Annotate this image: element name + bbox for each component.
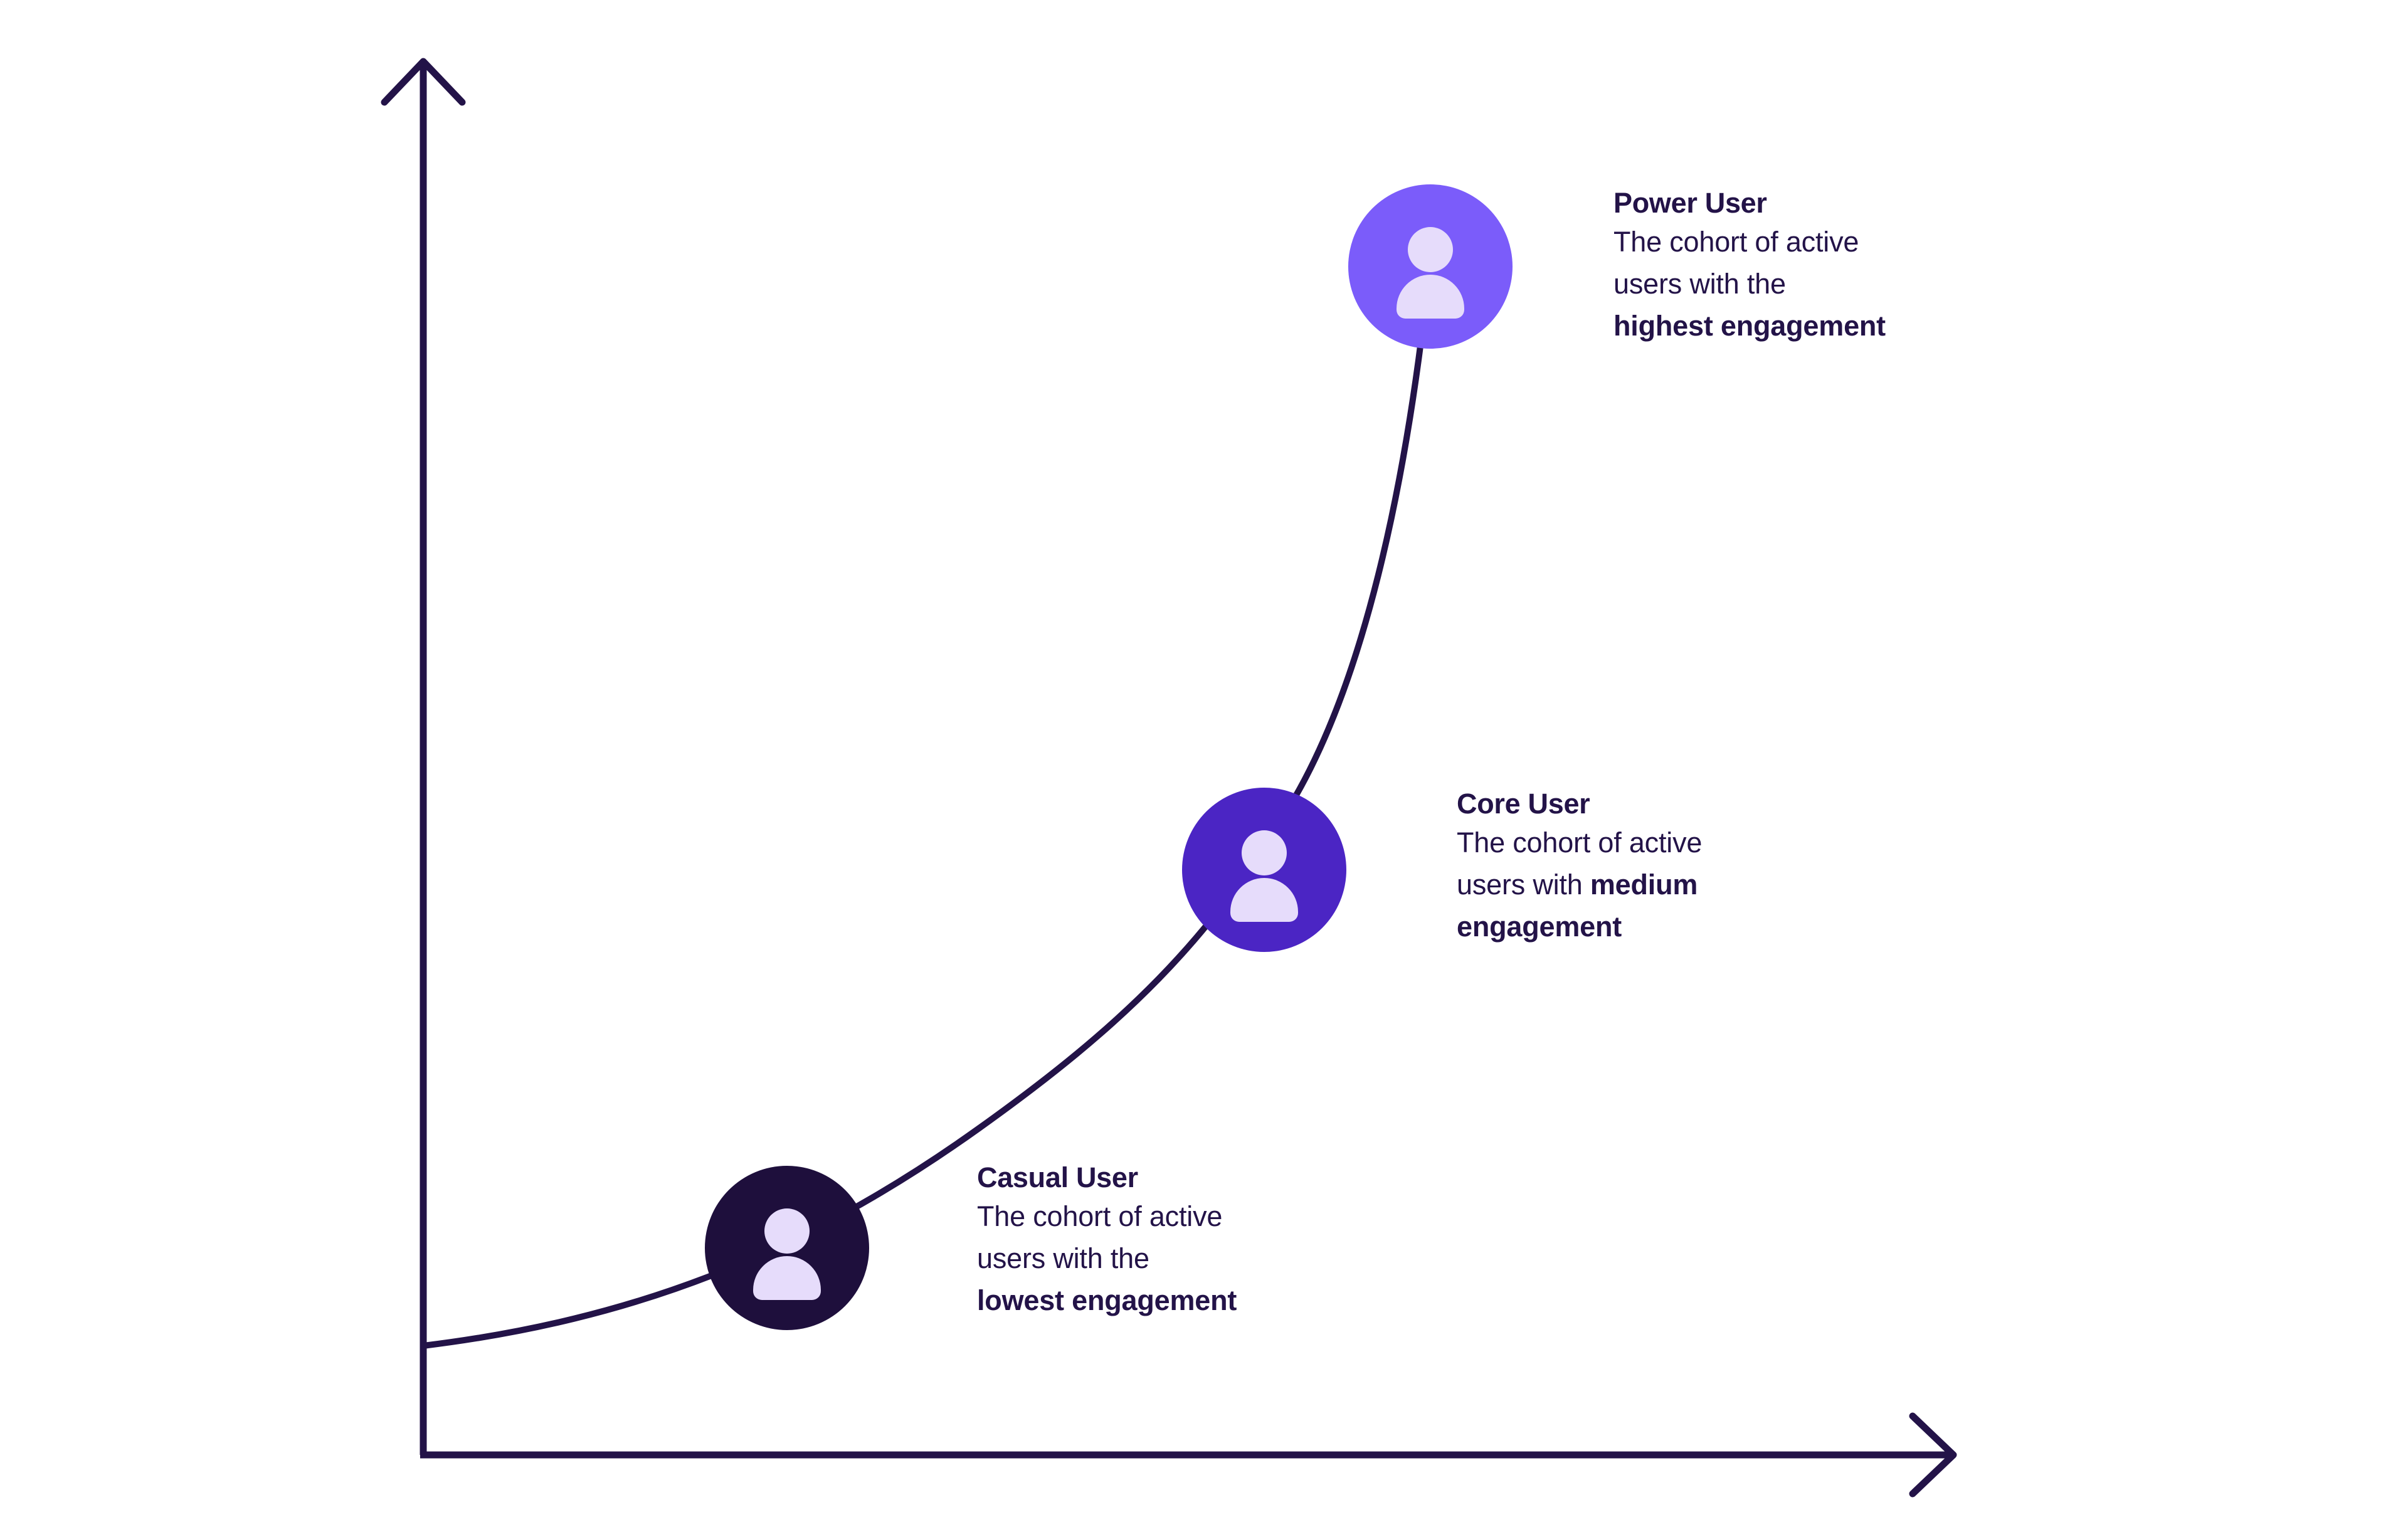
- callout-core-line1: The cohort of active: [1457, 822, 1833, 864]
- callout-core-line2-plain: users with: [1457, 869, 1590, 901]
- user-avatar-icon: [1182, 788, 1346, 952]
- callout-core-line2-bold: medium: [1590, 869, 1698, 901]
- callout-power-title: Power User: [1613, 186, 2027, 221]
- user-avatar-icon: [1348, 184, 1513, 349]
- callout-power-line3: highest engagement: [1613, 305, 2027, 347]
- horizontal-axis: [420, 1416, 1953, 1494]
- callout-power-user: Power User The cohort of active users wi…: [1613, 186, 2027, 347]
- callout-casual-line1: The cohort of active: [977, 1195, 1353, 1237]
- callout-power-line3-bold: highest engagement: [1613, 310, 1886, 342]
- vertical-axis: [384, 61, 462, 1455]
- callout-casual-line3-bold: lowest engagement: [977, 1284, 1237, 1316]
- callout-power-line2: users with the: [1613, 263, 2027, 305]
- node-casual-user[interactable]: [705, 1166, 869, 1330]
- callout-power-line1: The cohort of active: [1613, 221, 2027, 263]
- callout-core-user: Core User The cohort of active users wit…: [1457, 786, 1833, 948]
- callout-casual-line2: users with the: [977, 1237, 1353, 1279]
- node-power-user[interactable]: [1348, 184, 1513, 349]
- callout-casual-user: Casual User The cohort of active users w…: [977, 1160, 1353, 1321]
- callout-core-title: Core User: [1457, 786, 1833, 822]
- callout-core-line3: engagement: [1457, 906, 1833, 948]
- callout-core-line3-bold: engagement: [1457, 911, 1622, 943]
- node-core-user[interactable]: [1182, 788, 1346, 952]
- callout-power-body: The cohort of active users with the high…: [1613, 221, 2027, 347]
- callout-casual-title: Casual User: [977, 1160, 1353, 1195]
- callout-casual-line3: lowest engagement: [977, 1279, 1353, 1321]
- diagram-canvas: Power User The cohort of active users wi…: [0, 0, 2408, 1522]
- callout-core-body: The cohort of active users with medium e…: [1457, 822, 1833, 948]
- callout-core-line2: users with medium: [1457, 864, 1833, 906]
- user-avatar-icon: [705, 1166, 869, 1330]
- callout-casual-body: The cohort of active users with the lowe…: [977, 1195, 1353, 1321]
